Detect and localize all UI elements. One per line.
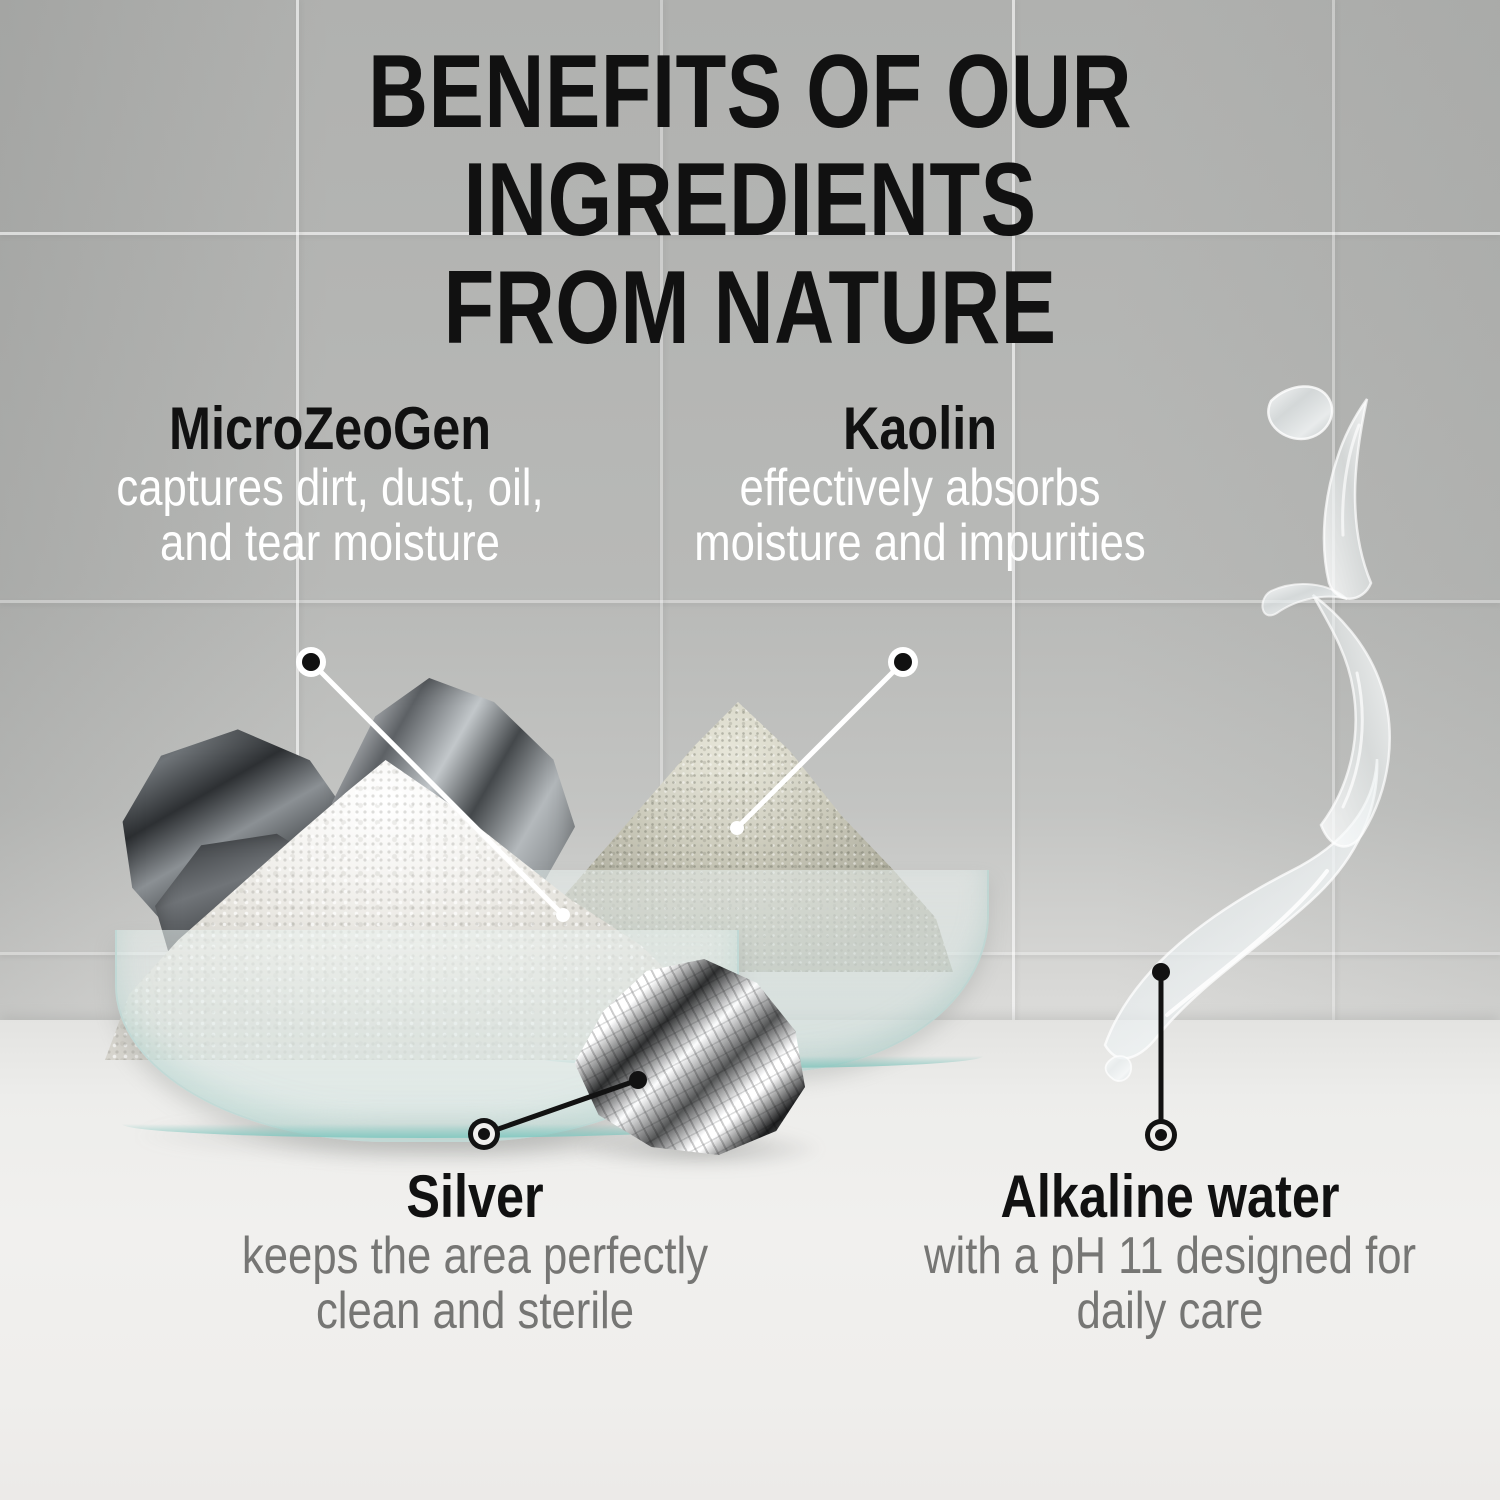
callout-heading-silver: Silver [202, 1166, 748, 1227]
callout-kaolin: Kaolin effectively absorbs moisture and … [600, 398, 1240, 571]
callout-body-silver: keeps the area perfectly clean and steri… [202, 1229, 748, 1339]
callout-body-line: clean and sterile [202, 1284, 748, 1339]
callout-body-microzeogen: captures dirt, dust, oil, and tear moist… [70, 461, 591, 571]
page-title: BENEFITS OF OUR INGREDIENTS FROM NATURE [150, 38, 1350, 362]
infographic-canvas: BENEFITS OF OUR INGREDIENTS FROM NATURE … [0, 0, 1500, 1500]
callout-heading-alkaline-water: Alkaline water [893, 1166, 1447, 1227]
callout-endpoint-alkaline-water [1152, 963, 1170, 981]
callout-endpoint-silver [629, 1071, 647, 1089]
callout-alkaline-water: Alkaline water with a pH 11 designed for… [840, 1166, 1500, 1339]
callout-endpoint-microzeogen [556, 908, 570, 922]
callout-marker-microzeogen[interactable] [296, 647, 326, 677]
callout-body-line: keeps the area perfectly [202, 1229, 748, 1284]
callout-body-kaolin: effectively absorbs moisture and impurit… [651, 461, 1189, 571]
callout-body-line: captures dirt, dust, oil, [70, 461, 591, 516]
title-line-2: FROM NATURE [150, 254, 1350, 362]
callout-marker-kaolin[interactable] [888, 647, 918, 677]
callout-endpoint-kaolin [730, 821, 744, 835]
title-line-1: BENEFITS OF OUR INGREDIENTS [368, 34, 1132, 258]
callout-body-line: daily care [893, 1284, 1447, 1339]
callout-microzeogen: MicroZeoGen captures dirt, dust, oil, an… [20, 398, 640, 571]
callout-heading-microzeogen: MicroZeoGen [70, 398, 591, 459]
callout-body-alkaline-water: with a pH 11 designed for daily care [893, 1229, 1447, 1339]
callout-marker-alkaline-water[interactable] [1145, 1119, 1177, 1151]
callout-marker-silver[interactable] [468, 1118, 500, 1150]
callout-silver: Silver keeps the area perfectly clean an… [150, 1166, 800, 1339]
callout-body-line: and tear moisture [70, 516, 591, 571]
callout-body-line: with a pH 11 designed for [893, 1229, 1447, 1284]
callout-body-line: moisture and impurities [651, 516, 1189, 571]
callout-body-line: effectively absorbs [651, 461, 1189, 516]
callout-heading-kaolin: Kaolin [651, 398, 1189, 459]
ingredient-still-life [95, 640, 975, 1170]
